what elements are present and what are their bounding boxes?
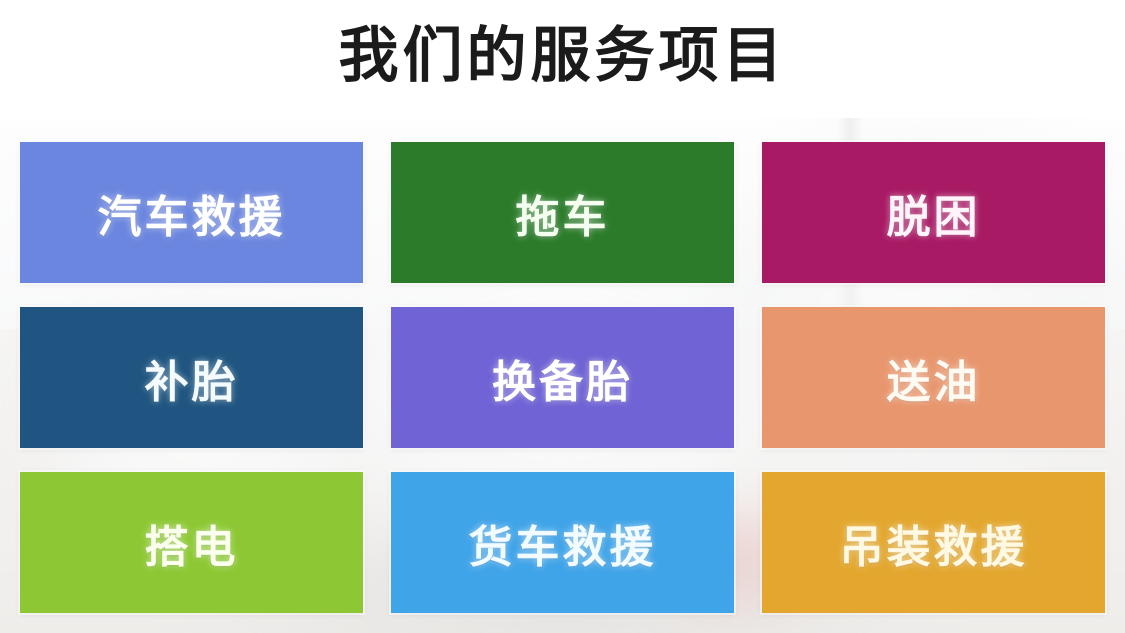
service-tile-label: 汽车救援 xyxy=(98,181,286,245)
service-tile-label: 补胎 xyxy=(145,346,239,410)
service-tile-label: 换备胎 xyxy=(492,346,633,410)
service-tile-2[interactable]: 拖车 xyxy=(391,142,734,283)
poster-header: 我们的服务项目 xyxy=(0,0,1125,118)
service-tile-1[interactable]: 汽车救援 xyxy=(20,142,363,283)
service-tile-9[interactable]: 吊装救援 xyxy=(762,472,1105,613)
service-tile-4[interactable]: 补胎 xyxy=(20,307,363,448)
service-tile-label: 送油 xyxy=(887,346,981,410)
service-tile-label: 搭电 xyxy=(145,511,239,575)
page-title: 我们的服务项目 xyxy=(339,26,787,92)
service-tile-label: 货车救援 xyxy=(469,511,657,575)
service-tile-8[interactable]: 货车救援 xyxy=(391,472,734,613)
service-tile-label: 拖车 xyxy=(516,181,610,245)
service-tile-label: 脱困 xyxy=(887,181,981,245)
service-tile-label: 吊装救援 xyxy=(840,511,1028,575)
service-tile-5[interactable]: 换备胎 xyxy=(391,307,734,448)
service-poster: 我们的服务项目 汽车救援 拖车 脱困 补胎 换备胎 送油 搭电 货车救援 吊装救… xyxy=(0,0,1125,633)
service-tile-3[interactable]: 脱困 xyxy=(762,142,1105,283)
service-tile-grid: 汽车救援 拖车 脱困 补胎 换备胎 送油 搭电 货车救援 吊装救援 xyxy=(20,142,1105,613)
service-tile-7[interactable]: 搭电 xyxy=(20,472,363,613)
service-tile-6[interactable]: 送油 xyxy=(762,307,1105,448)
